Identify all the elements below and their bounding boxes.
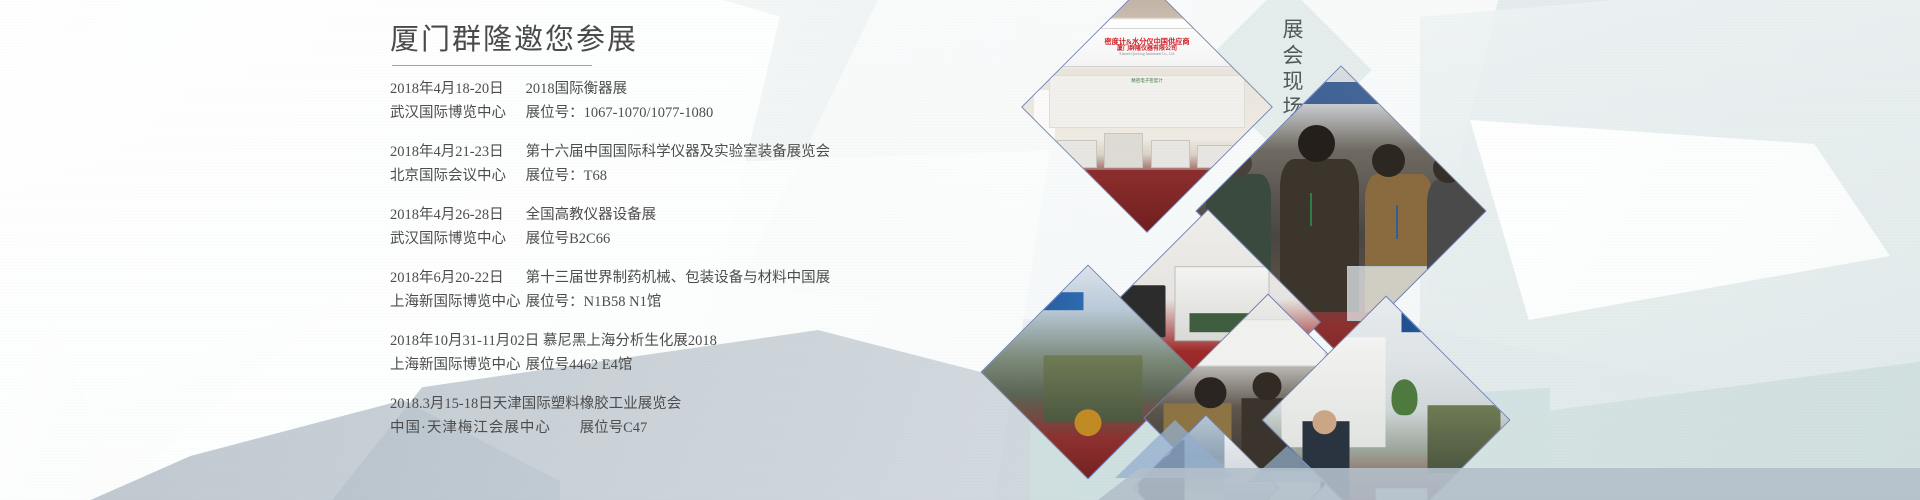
event-venue: 上海新国际博览中心 xyxy=(390,354,522,377)
title-underline xyxy=(392,65,592,66)
event-line-primary: 2018年4月26-28日 全国高教仪器设备展 xyxy=(390,204,1010,227)
booth-display-panel: 精密电子密度计 xyxy=(1049,75,1244,128)
staff-head xyxy=(1313,410,1336,433)
event-date: 2018年4月18-20日 xyxy=(390,78,522,101)
event-line-primary: 2018.3月15-18日天津国际塑料橡胶工业展览会 xyxy=(390,393,1010,416)
instrument-unit xyxy=(1151,140,1191,167)
visitor-head xyxy=(1252,371,1281,400)
visitor-head xyxy=(1372,144,1406,178)
event-line-secondary: 上海新国际博览中心 展位号4462 E4馆 xyxy=(390,354,1010,377)
visitor-head xyxy=(1298,125,1335,162)
instrument-row xyxy=(1057,133,1237,167)
event-item: 2018.3月15-18日天津国际塑料橡胶工业展览会 中国·天津梅江会展中心 展… xyxy=(390,393,1010,440)
booth-logo-plate xyxy=(1402,310,1480,331)
event-item: 2018年4月26-28日 全国高教仪器设备展 武汉国际博览中心 展位号B2C6… xyxy=(390,204,1010,251)
event-line-secondary: 武汉国际博览中心 展位号：1067-1070/1077-1080 xyxy=(390,102,1010,125)
badge-lanyard xyxy=(1310,193,1312,227)
instrument-unit xyxy=(1057,140,1097,167)
booth-panel-label-left: 精密电子密度计 xyxy=(1050,78,1243,84)
event-date: 2018年10月31-11月02日 xyxy=(390,330,539,353)
plant-decoration xyxy=(1391,378,1417,415)
visitor-head xyxy=(1195,376,1226,407)
person-left xyxy=(1139,439,1185,500)
event-item: 2018年4月18-20日 2018国际衡器展 武汉国际博览中心 展位号：106… xyxy=(390,78,1010,125)
event-list-panel: 厦门群隆邀您参展 2018年4月18-20日 2018国际衡器展 武汉国际博览中… xyxy=(390,22,1010,456)
event-line-primary: 2018年10月31-11月02日 慕尼黑上海分析生化展2018 xyxy=(390,330,1010,353)
visitor-body xyxy=(1427,180,1487,309)
instrument-unit xyxy=(1376,488,1428,500)
event-line-primary: 2018年4月18-20日 2018国际衡器展 xyxy=(390,78,1010,101)
event-venue: 中国·天津梅江会展中心 xyxy=(390,417,576,440)
booth-banner-sign: 密度计&水分仪中国供应商 厦门群隆仪器有限公司 Xiamen Qun long … xyxy=(1044,28,1250,68)
event-line-secondary: 北京国际会议中心 展位号：T68 xyxy=(390,165,1010,188)
event-line-secondary: 上海新国际博览中心 展位号：N1B58 N1馆 xyxy=(390,291,1010,314)
event-venue: 上海新国际博览中心 xyxy=(390,291,522,314)
visitor-head xyxy=(1225,150,1253,178)
event-line-primary: 2018年6月20-22日 第十三届世界制药机械、包装设备与材料中国展 xyxy=(390,267,1010,290)
event-venue: 武汉国际博览中心 xyxy=(390,228,522,251)
event-booth: 展位号B2C66 xyxy=(526,228,611,251)
badge-lanyard xyxy=(1396,205,1398,239)
booth-logo-text: 3nGRT xyxy=(1407,310,1424,315)
exhibition-banner: 厦门群隆邀您参展 2018年4月18-20日 2018国际衡器展 武汉国际博览中… xyxy=(0,0,1920,500)
event-name: 全国高教仪器设备展 xyxy=(526,204,657,227)
event-date: 2018.3月15-18日天津国际塑料橡胶工业展览会 xyxy=(390,393,681,416)
event-name: 第十三届世界制药机械、包装设备与材料中国展 xyxy=(526,267,831,290)
background-polygon-4 xyxy=(1420,0,1920,440)
visitor-head xyxy=(1433,153,1464,184)
event-booth: 展位号：T68 xyxy=(526,165,607,188)
booth-banner-line3: Xiamen Qun long Instrument Co., Ltd. xyxy=(1119,53,1175,57)
background-polygon-5 xyxy=(1470,120,1890,320)
event-booth: 展位号：1067-1070/1077-1080 xyxy=(526,102,714,125)
event-line-secondary: 中国·天津梅江会展中心 展位号C47 xyxy=(390,417,1010,440)
event-item: 2018年4月21-23日 第十六届中国国际科学仪器及实验室装备展览会 北京国际… xyxy=(390,141,1010,188)
event-venue: 北京国际会议中心 xyxy=(390,165,522,188)
event-name: 第十六届中国国际科学仪器及实验室装备展览会 xyxy=(526,141,831,164)
page-title: 厦门群隆邀您参展 xyxy=(390,22,1010,65)
event-line-secondary: 武汉国际博览中心 展位号B2C66 xyxy=(390,228,1010,251)
machinery-unit xyxy=(1428,404,1501,472)
event-date: 2018年4月26-28日 xyxy=(390,204,522,227)
event-booth: 展位号：N1B58 N1馆 xyxy=(526,291,662,314)
event-name: 2018国际衡器展 xyxy=(526,78,628,101)
event-item: 2018年10月31-11月02日 慕尼黑上海分析生化展2018 上海新国际博览… xyxy=(390,330,1010,377)
event-booth: 展位号C47 xyxy=(580,417,648,440)
event-date: 2018年6月20-22日 xyxy=(390,267,522,290)
event-name: 慕尼黑上海分析生化展2018 xyxy=(543,330,717,353)
event-item: 2018年6月20-22日 第十三届世界制药机械、包装设备与材料中国展 上海新国… xyxy=(390,267,1010,314)
photo-collage: 密度计&水分仪中国供应商 厦门群隆仪器有限公司 Xiamen Qun long … xyxy=(1020,0,1460,500)
event-venue: 武汉国际博览中心 xyxy=(390,102,522,125)
instrument-unit xyxy=(1197,145,1237,167)
instrument-unit xyxy=(1104,133,1144,167)
event-line-primary: 2018年4月21-23日 第十六届中国国际科学仪器及实验室装备展览会 xyxy=(390,141,1010,164)
event-booth: 展位号4462 E4馆 xyxy=(526,354,633,377)
event-date: 2018年4月21-23日 xyxy=(390,141,522,164)
